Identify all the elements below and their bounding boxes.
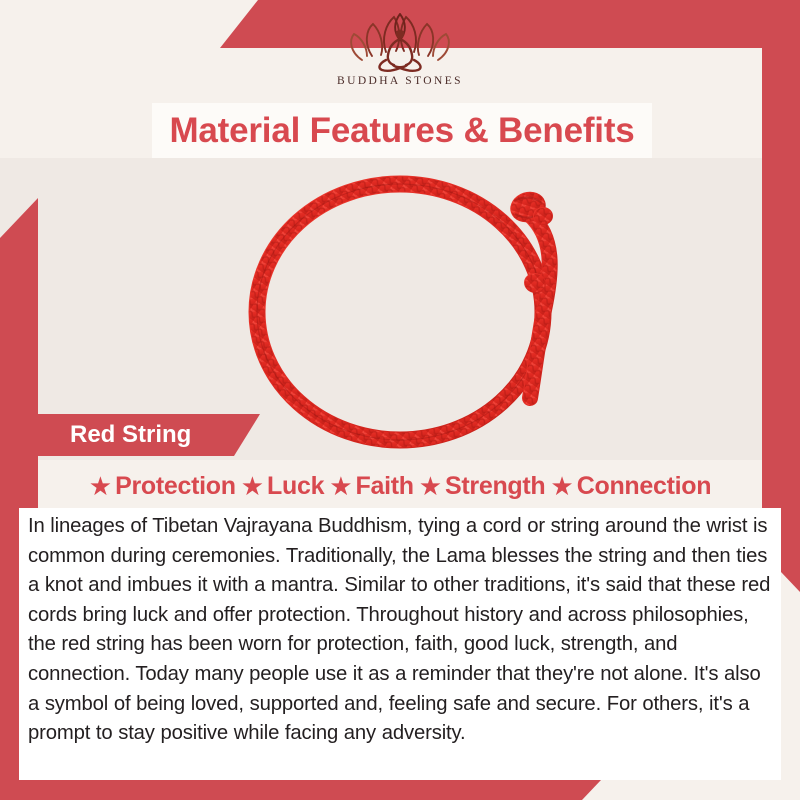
feature-item-protection: ★ Protection [89, 472, 236, 501]
page-title: Material Features & Benefits [169, 111, 634, 151]
feature-label: Strength [445, 472, 545, 501]
star-icon: ★ [329, 473, 352, 499]
brand-logo: BUDDHA STONES [0, 8, 800, 100]
star-icon: ★ [241, 473, 264, 499]
red-braided-string-bracelet-icon [212, 160, 612, 456]
title-banner: Material Features & Benefits [152, 103, 652, 158]
feature-item-faith: ★ Faith [329, 472, 414, 501]
description-paragraph: In lineages of Tibetan Vajrayana Buddhis… [28, 512, 771, 749]
feature-item-connection: ★ Connection [550, 472, 711, 501]
star-icon: ★ [550, 473, 573, 499]
material-features-infographic: BUDDHA STONES Material Features & Benefi… [0, 0, 800, 800]
feature-label: Protection [115, 472, 236, 501]
feature-list: ★ Protection ★ Luck ★ Faith ★ Strength ★… [0, 465, 800, 507]
star-icon: ★ [419, 473, 442, 499]
description-card: In lineages of Tibetan Vajrayana Buddhis… [19, 508, 781, 780]
feature-label: Connection [577, 472, 712, 501]
material-name-label: Red String [70, 421, 191, 449]
feature-label: Faith [356, 472, 414, 501]
lotus-meditation-logo-icon [346, 8, 454, 74]
feature-item-luck: ★ Luck [241, 472, 324, 501]
brand-name: BUDDHA STONES [337, 75, 463, 87]
material-name-ribbon: Red String [0, 414, 260, 456]
feature-item-strength: ★ Strength [419, 472, 546, 501]
star-icon: ★ [89, 473, 112, 499]
feature-label: Luck [267, 472, 324, 501]
